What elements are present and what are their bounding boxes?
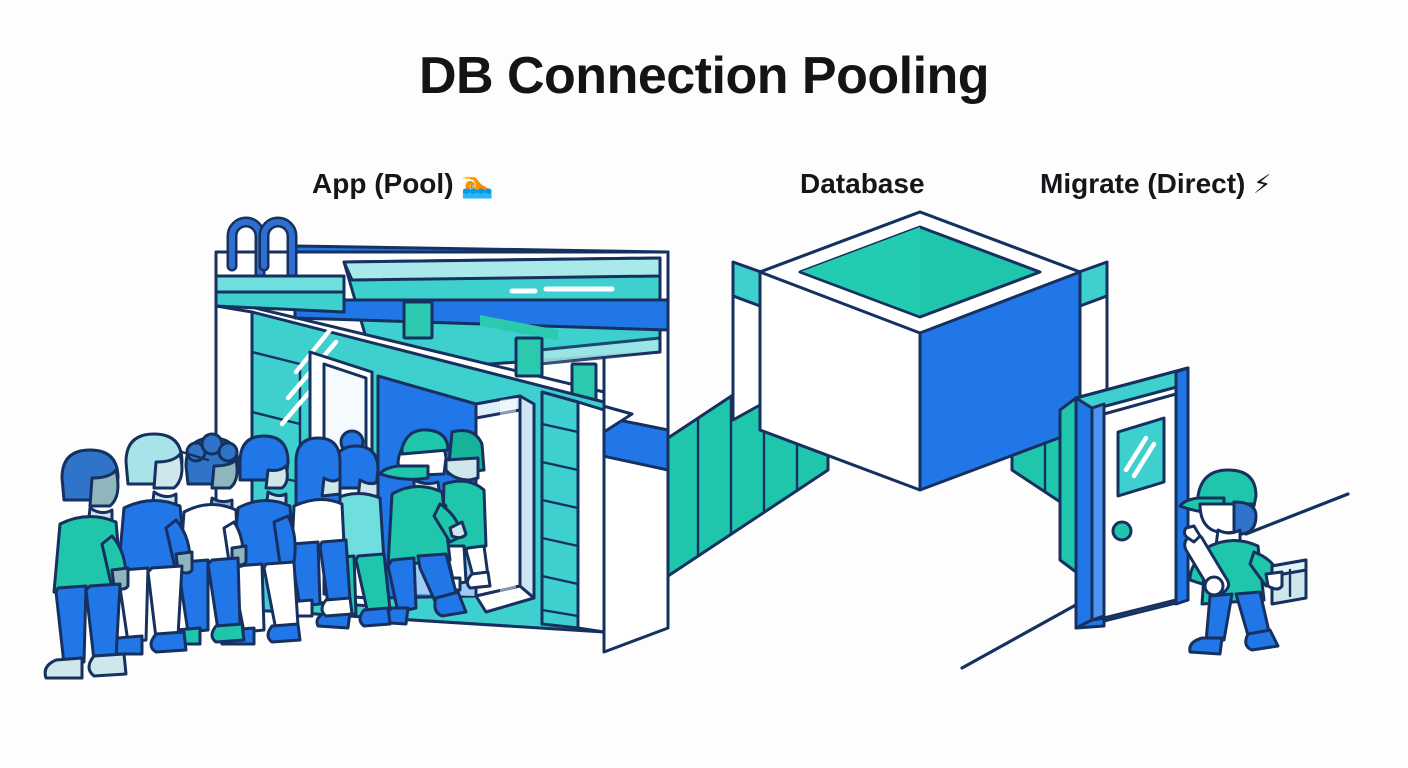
migrate-worker bbox=[1180, 470, 1306, 654]
scene-illustration: .o{fill:none;stroke:#16315f;stroke-width… bbox=[0, 0, 1408, 768]
person-1 bbox=[45, 450, 128, 678]
illustration-canvas: DB Connection Pooling App (Pool) 🏊 Datab… bbox=[0, 0, 1408, 768]
migrate-side-door bbox=[1076, 368, 1188, 628]
